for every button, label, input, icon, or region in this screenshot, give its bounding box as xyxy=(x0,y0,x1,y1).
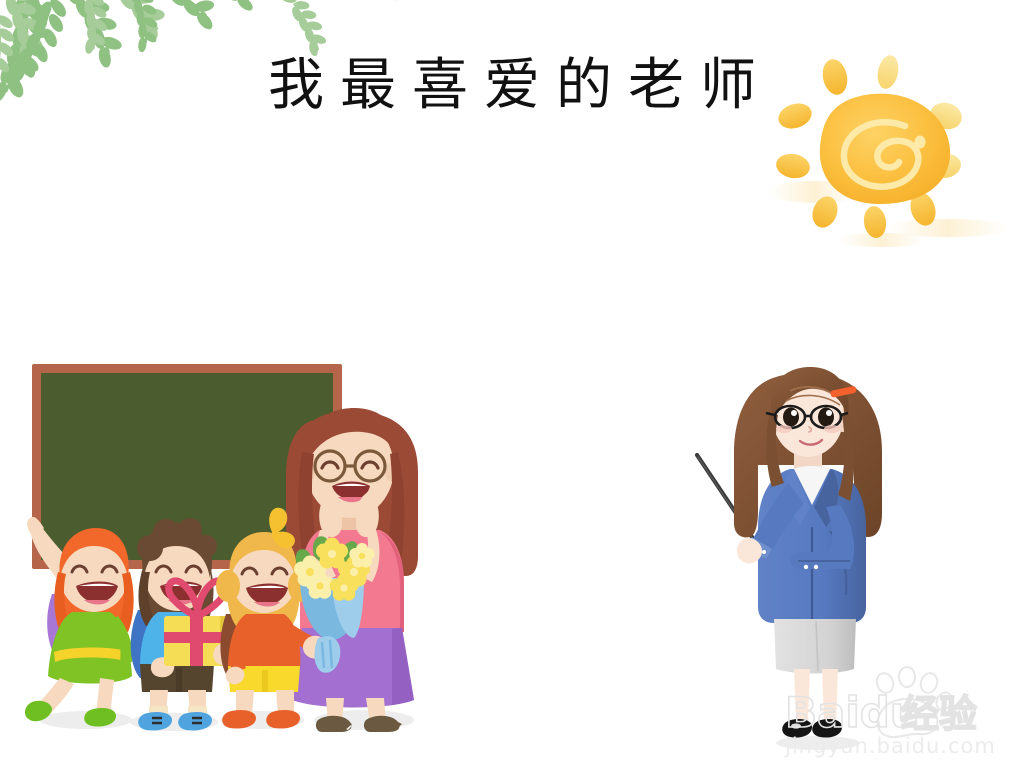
teacher2-shoe-right xyxy=(812,719,842,738)
child-girl-in-green-dress xyxy=(25,517,134,727)
poster-canvas: Baidu 经验 jingyan.baidu.com 我最喜爱的老师 xyxy=(0,0,1024,768)
girl2-pigtail-left xyxy=(216,570,240,602)
teacher-with-pointer-scene xyxy=(690,355,920,755)
child-boy-with-gift xyxy=(131,518,237,731)
girl2-shoe-right xyxy=(266,710,300,729)
teacher2-skirt xyxy=(774,619,856,674)
sun-spiral-dot xyxy=(915,136,926,149)
page-title: 我最喜爱的老师 xyxy=(0,58,1024,114)
students-giving-gifts-scene xyxy=(14,380,444,740)
teacher2-leg-left xyxy=(794,669,810,723)
teacher2-ground-shadow xyxy=(776,736,860,750)
teacher2-eye-right xyxy=(818,408,834,427)
teacher2-eye-left xyxy=(783,408,799,427)
teacher2-leg-right xyxy=(822,669,838,723)
